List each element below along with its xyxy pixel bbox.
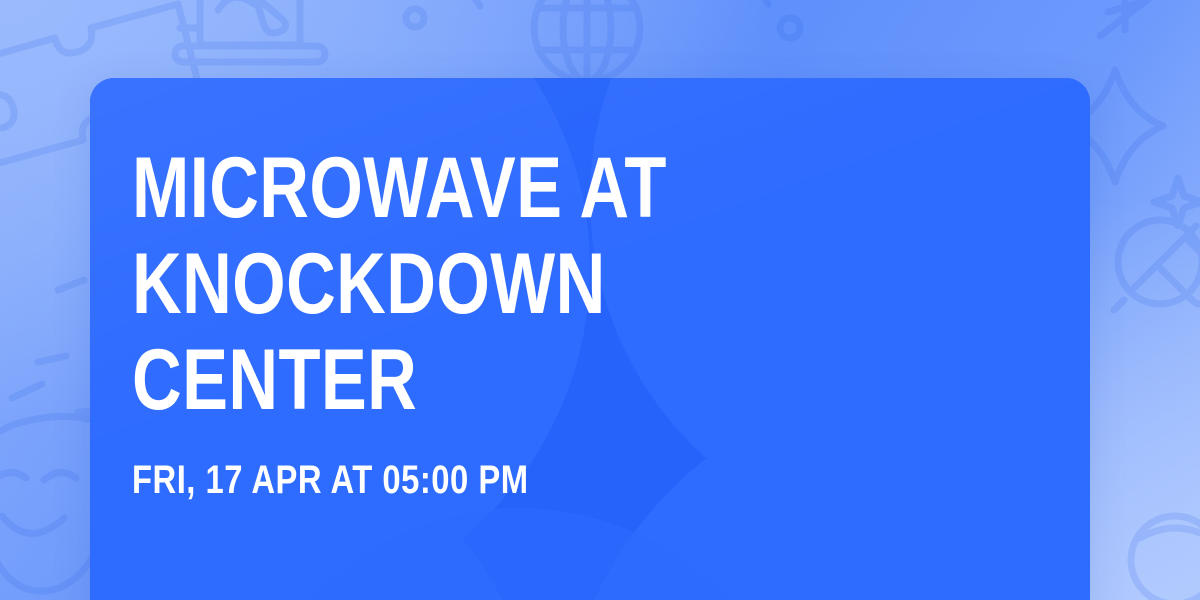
- globe-icon: [534, 0, 640, 81]
- star-burst-icon: [1100, 0, 1152, 36]
- event-banner: MICROWAVE AT KNOCKDOWN CENTER FRI, 17 AP…: [0, 0, 1200, 600]
- balloon-icon: [1131, 516, 1200, 600]
- event-card-content: MICROWAVE AT KNOCKDOWN CENTER FRI, 17 AP…: [132, 140, 1030, 502]
- event-title: MICROWAVE AT KNOCKDOWN CENTER: [132, 140, 1090, 428]
- confetti-streaks-icon: [12, 280, 84, 398]
- dj-deck-icon: [175, 0, 325, 62]
- microphone-icon: [1114, 220, 1200, 310]
- event-date: FRI, 17 APR AT 05:00 PM: [132, 428, 706, 502]
- event-card[interactable]: MICROWAVE AT KNOCKDOWN CENTER FRI, 17 AP…: [90, 78, 1090, 600]
